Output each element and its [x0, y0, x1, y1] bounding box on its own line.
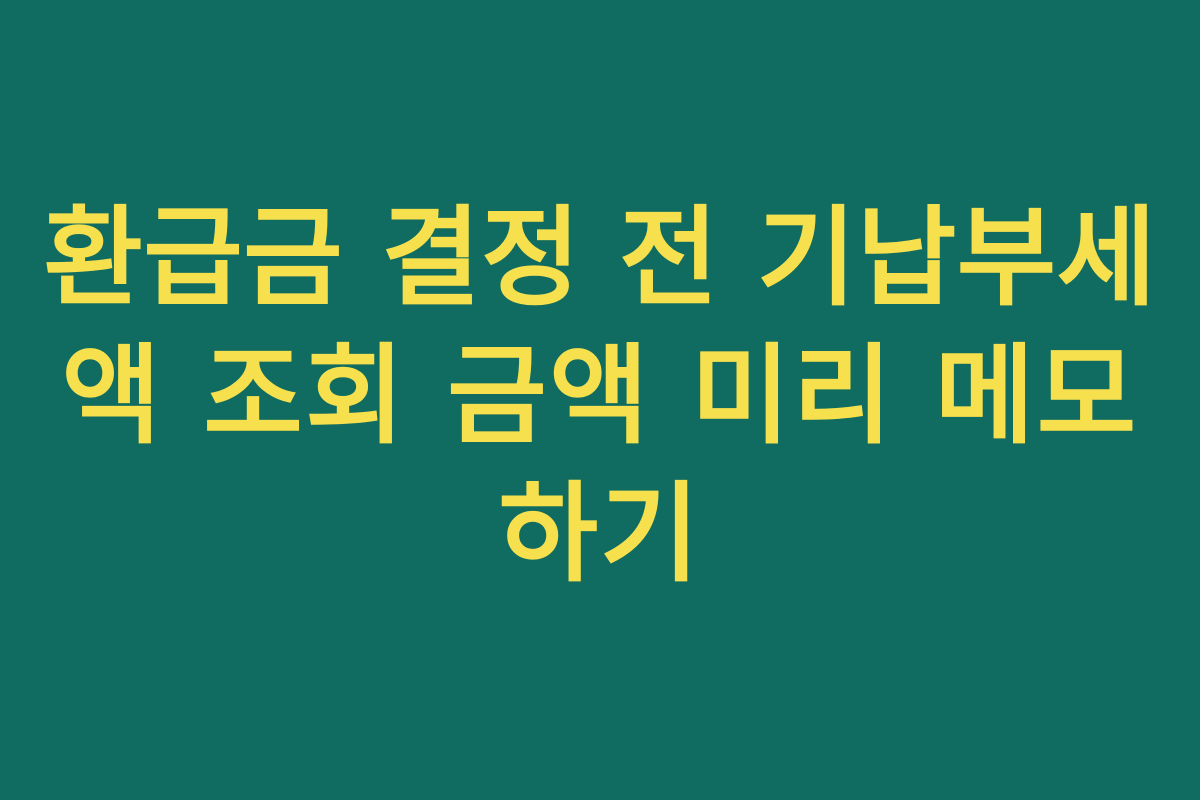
page-title: 환급금 결정 전 기납부세 액 조회 금액 미리 메모 하기 [70, 190, 1130, 604]
page-title-line-2: 액 조회 금액 미리 메모 [61, 328, 1138, 466]
page-title-line-1: 환급금 결정 전 기납부세 [44, 190, 1157, 328]
page-title-line-3: 하기 [499, 466, 702, 604]
thumbnail-card: 환급금 결정 전 기납부세 액 조회 금액 미리 메모 하기 [0, 0, 1200, 800]
